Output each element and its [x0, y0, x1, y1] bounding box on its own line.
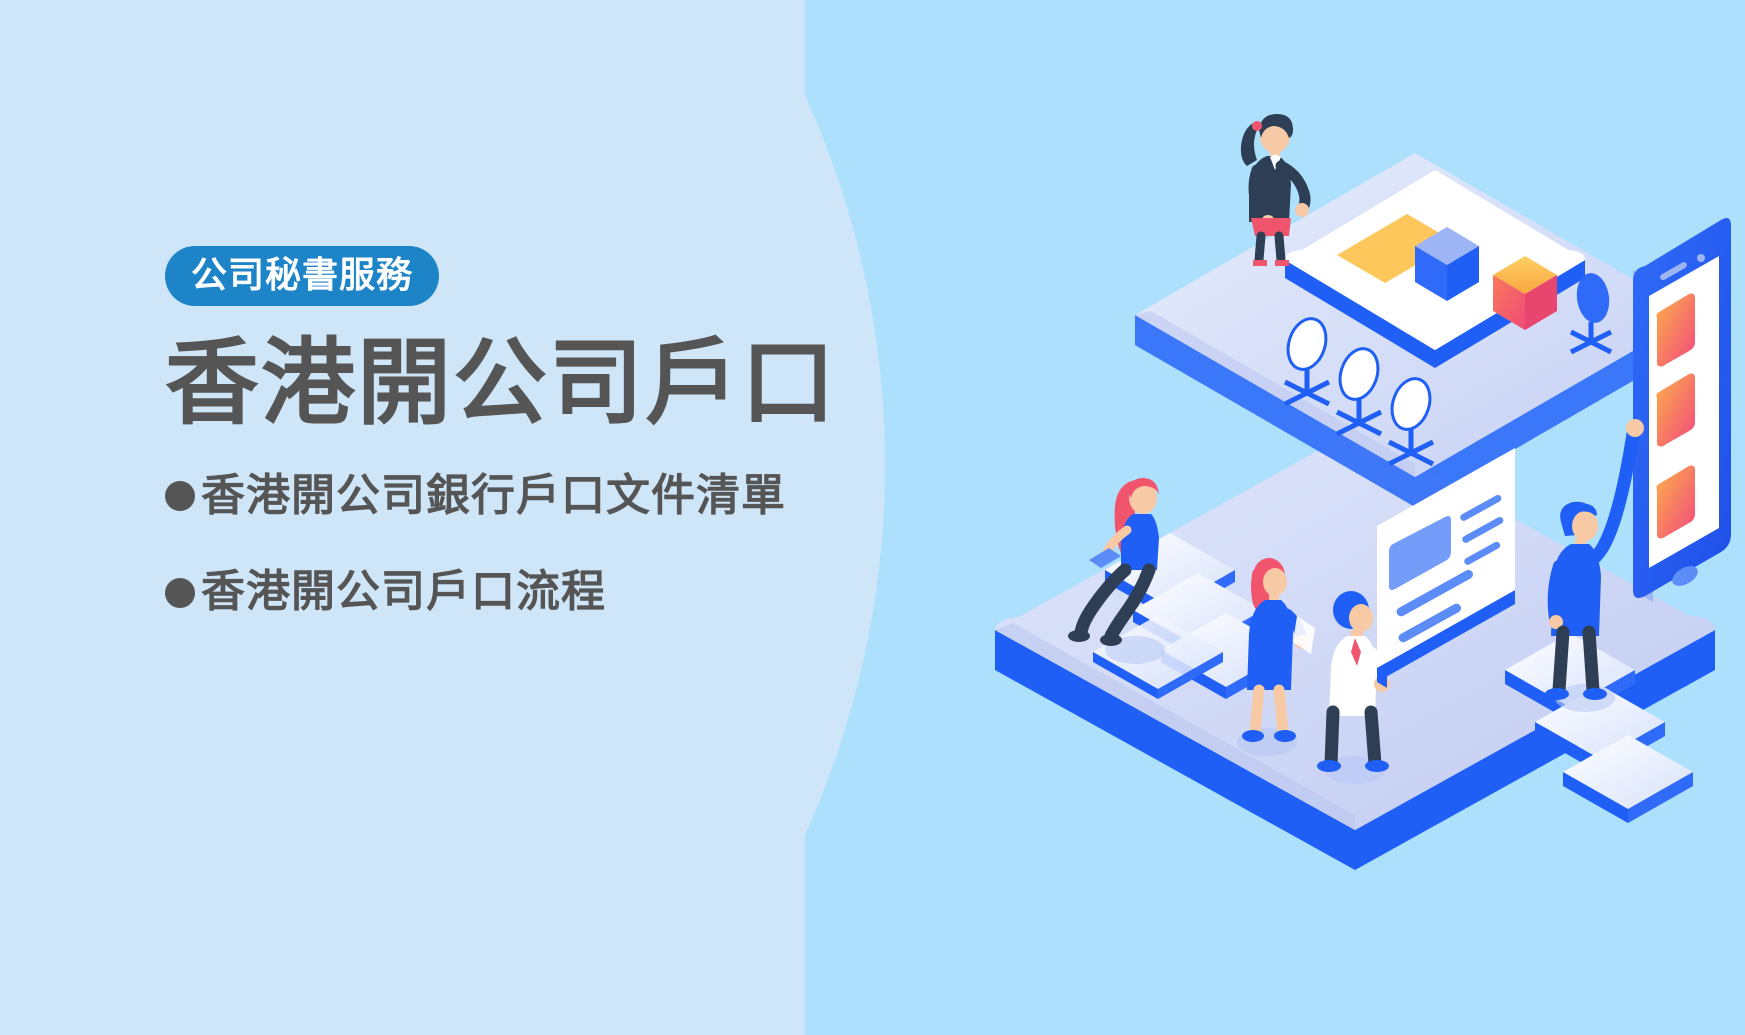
list-item: 香港開公司戶口流程 — [165, 567, 985, 618]
isometric-office-illustration — [985, 70, 1745, 880]
smartphone-mockup — [1633, 218, 1731, 602]
bullet-dot-icon — [165, 578, 195, 608]
bullet-dot-icon — [165, 481, 195, 511]
list-item-label: 香港開公司戶口流程 — [201, 567, 606, 618]
list-item: 香港開公司銀行戶口文件清單 — [165, 471, 985, 522]
bullet-list: 香港開公司銀行戶口文件清單 香港開公司戶口流程 — [165, 471, 985, 618]
text-content-block: 公司秘書服務 香港開公司戶口 香港開公司銀行戶口文件清單 香港開公司戶口流程 — [165, 246, 985, 618]
promo-banner: 公司秘書服務 香港開公司戶口 香港開公司銀行戶口文件清單 香港開公司戶口流程 — [0, 0, 1745, 1035]
phone-cards — [1656, 294, 1695, 539]
service-badge: 公司秘書服務 — [165, 246, 439, 306]
list-item-label: 香港開公司銀行戶口文件清單 — [201, 471, 786, 522]
page-title: 香港開公司戶口 — [165, 334, 985, 433]
